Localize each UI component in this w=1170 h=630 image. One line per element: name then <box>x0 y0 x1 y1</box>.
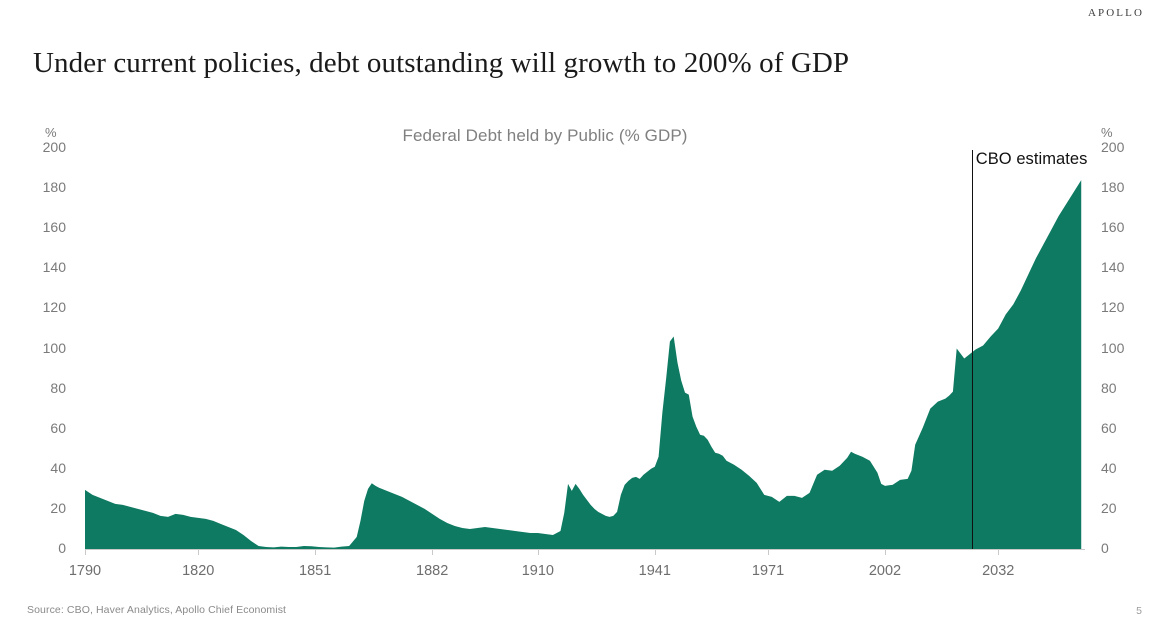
x-tick-1941: 1941 <box>639 563 671 579</box>
apollo-logo: APOLLO <box>1088 7 1144 19</box>
y-tick-left-120: 120 <box>24 300 66 314</box>
chart-title: Federal Debt held by Public (% GDP) <box>0 126 1130 146</box>
y-tick-right-140: 140 <box>1101 260 1143 274</box>
plot-area <box>85 148 1085 549</box>
x-tickmark-1910 <box>538 549 539 555</box>
x-tick-1851: 1851 <box>299 563 331 579</box>
y-tick-right-160: 160 <box>1101 220 1143 234</box>
y-tick-left-140: 140 <box>24 260 66 274</box>
y-tick-left-60: 60 <box>24 421 66 435</box>
x-tick-1820: 1820 <box>182 563 214 579</box>
x-tickmark-2032 <box>998 549 999 555</box>
y-tick-left-20: 20 <box>24 501 66 515</box>
y-tick-left-100: 100 <box>24 341 66 355</box>
area-series-svg <box>85 148 1085 549</box>
y-tick-left-80: 80 <box>24 381 66 395</box>
page-number: 5 <box>1136 605 1142 617</box>
x-tick-1971: 1971 <box>752 563 784 579</box>
area-series-path <box>85 180 1081 549</box>
y-tick-right-180: 180 <box>1101 180 1143 194</box>
y-tick-left-200: 200 <box>24 140 66 154</box>
y-tick-right-200: 200 <box>1101 140 1143 154</box>
x-tickmark-1851 <box>315 549 316 555</box>
y-tick-left-0: 0 <box>24 541 66 555</box>
x-tick-1790: 1790 <box>69 563 101 579</box>
x-tickmark-1882 <box>432 549 433 555</box>
x-tickmark-1941 <box>655 549 656 555</box>
y-axis-unit-left: % <box>45 125 57 140</box>
x-tickmark-1820 <box>198 549 199 555</box>
y-tick-right-20: 20 <box>1101 501 1143 515</box>
x-tick-2032: 2032 <box>982 563 1014 579</box>
y-axis-unit-right: % <box>1101 125 1113 140</box>
x-tickmark-1971 <box>768 549 769 555</box>
x-tick-1882: 1882 <box>416 563 448 579</box>
y-tick-right-80: 80 <box>1101 381 1143 395</box>
y-tick-right-100: 100 <box>1101 341 1143 355</box>
chart-container: Federal Debt held by Public (% GDP) % % … <box>0 112 1170 582</box>
y-tick-right-60: 60 <box>1101 421 1143 435</box>
y-tick-left-160: 160 <box>24 220 66 234</box>
y-tick-right-120: 120 <box>1101 300 1143 314</box>
x-axis-baseline <box>85 549 1085 550</box>
x-tickmark-1790 <box>85 549 86 555</box>
slide-root: APOLLO Under current policies, debt outs… <box>0 0 1170 630</box>
y-tick-right-0: 0 <box>1101 541 1143 555</box>
x-tick-1910: 1910 <box>522 563 554 579</box>
x-tickmark-2002 <box>885 549 886 555</box>
source-note: Source: CBO, Haver Analytics, Apollo Chi… <box>27 604 286 616</box>
page-title: Under current policies, debt outstanding… <box>33 47 849 80</box>
y-tick-left-180: 180 <box>24 180 66 194</box>
cbo-estimates-divider-line <box>972 150 974 549</box>
cbo-estimates-label: CBO estimates <box>976 150 1088 169</box>
x-tick-2002: 2002 <box>869 563 901 579</box>
y-tick-right-40: 40 <box>1101 461 1143 475</box>
y-tick-left-40: 40 <box>24 461 66 475</box>
